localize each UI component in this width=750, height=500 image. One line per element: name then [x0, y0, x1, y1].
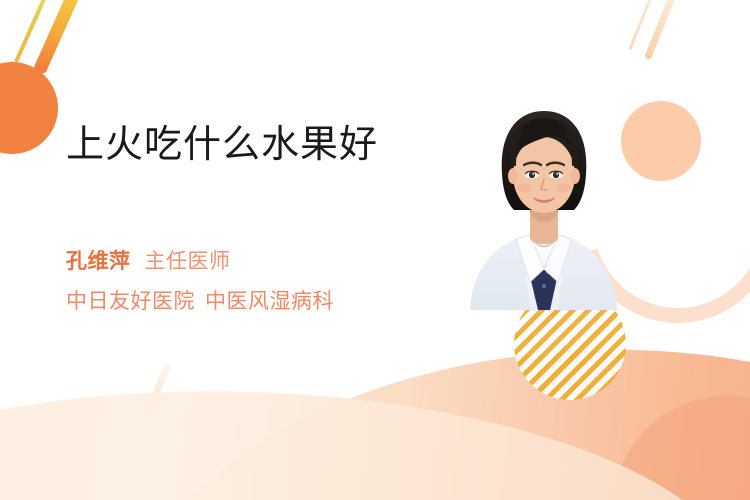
- article-cover-card: 上火吃什么水果好 孔维萍主任医师 中日友好医院中医风湿病科: [0, 0, 750, 500]
- doctor-portrait: [458, 96, 628, 310]
- doctor-title: 主任医师: [145, 250, 231, 273]
- cream-wave-shape: [0, 375, 747, 500]
- streak-top-right-thick-icon: [644, 0, 681, 60]
- streak-bottom-left-icon: [146, 363, 172, 414]
- streak-top-left-thick-icon: [33, 0, 84, 74]
- department-name: 中医风湿病科: [205, 290, 334, 313]
- streak-top-left-thin-icon: [14, 0, 50, 63]
- doctor-portrait-illustration: [458, 96, 628, 310]
- salmon-blob-shape: [612, 396, 750, 500]
- salmon-wave-shape: [101, 314, 750, 500]
- page-title: 上火吃什么水果好: [66, 113, 378, 168]
- peach-circle-icon: [621, 101, 701, 181]
- streak-top-right-thin-icon: [628, 0, 656, 50]
- doctor-credit-line: 孔维萍主任医师: [66, 248, 231, 276]
- hospital-credit-line: 中日友好医院中医风湿病科: [66, 288, 334, 316]
- doctor-name: 孔维萍: [66, 250, 131, 273]
- hospital-name: 中日友好医院: [66, 290, 195, 313]
- orange-circle-icon: [0, 62, 58, 154]
